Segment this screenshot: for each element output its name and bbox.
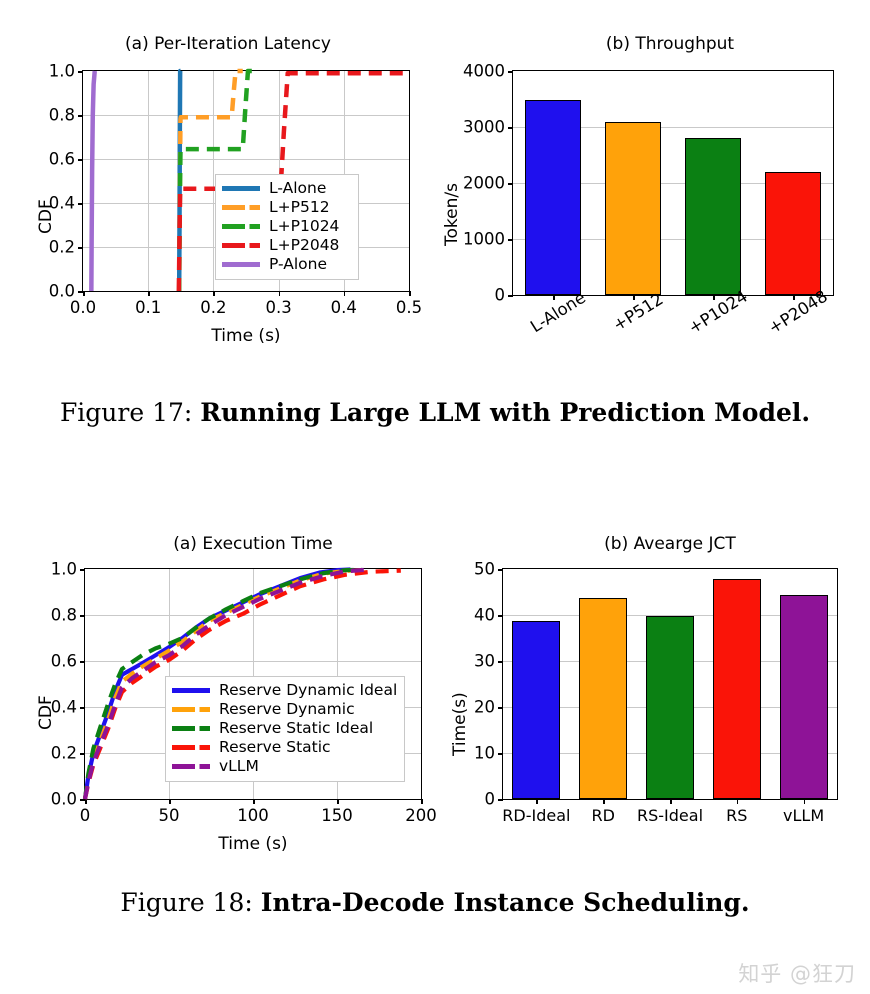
panel-per-iteration-latency: (a) Per-Iteration Latency CDF 0.00.20.40… xyxy=(28,34,428,354)
axis-tick xyxy=(793,295,795,300)
x-tick-label: L-Alone xyxy=(527,288,589,336)
axis-tick xyxy=(169,799,171,804)
axis-tick xyxy=(508,127,513,129)
y-tick-label: 20 xyxy=(474,698,495,717)
axis-tick xyxy=(633,295,635,300)
legend-swatch xyxy=(222,205,260,210)
y-tick-label: 0 xyxy=(485,790,496,809)
y-tick-label: 0.8 xyxy=(49,106,75,125)
legend-item: vLLM xyxy=(172,757,397,776)
axis-tick xyxy=(508,71,513,73)
legend-label: L+P1024 xyxy=(269,219,339,235)
x-tick-label: RS xyxy=(726,806,747,825)
axis-tick xyxy=(508,295,513,297)
x-tick-label: RD xyxy=(591,806,614,825)
x-tick-label: 0 xyxy=(80,806,91,825)
caption-prefix: Figure 18: xyxy=(120,888,252,917)
y-axis-label: Token/s xyxy=(442,183,462,246)
legend-swatch xyxy=(222,186,260,191)
legend-swatch xyxy=(222,243,260,248)
x-axis-label: Time (s) xyxy=(218,834,287,854)
x-tick-label: 150 xyxy=(321,806,353,825)
axis-tick xyxy=(498,569,503,571)
legend-item: Reserve Static Ideal xyxy=(172,719,397,738)
axis-tick xyxy=(498,799,503,801)
axis-tick xyxy=(344,291,346,296)
y-tick-label: 1.0 xyxy=(49,62,75,81)
plot-area: 0.00.20.40.60.81.0050100150200Reserve Dy… xyxy=(84,568,422,800)
legend-label: Reserve Dynamic Ideal xyxy=(219,683,397,699)
x-tick-label: +P512 xyxy=(610,289,667,334)
plot-area: 0.00.20.40.60.81.00.00.10.20.30.40.5L-Al… xyxy=(82,70,410,292)
bar xyxy=(685,138,741,295)
y-tick-label: 0.6 xyxy=(51,652,77,671)
x-tick-label: vLLM xyxy=(783,806,824,825)
legend-label: P-Alone xyxy=(269,257,327,273)
y-tick-label: 0.2 xyxy=(51,744,77,763)
legend-item: Reserve Static xyxy=(172,738,397,757)
x-axis-label: Time (s) xyxy=(211,326,280,346)
bar xyxy=(646,616,694,799)
caption-prefix: Figure 17: xyxy=(60,398,192,427)
legend-item: L+P1024 xyxy=(222,217,351,236)
bar xyxy=(525,100,581,295)
axis-tick xyxy=(713,295,715,300)
bar xyxy=(780,595,828,799)
axis-tick xyxy=(508,239,513,241)
panel-title: (a) Execution Time xyxy=(68,534,438,554)
x-tick-label: 0.2 xyxy=(200,298,226,317)
legend-label: Reserve Static Ideal xyxy=(219,721,373,737)
y-tick-label: 2000 xyxy=(463,174,505,193)
axis-tick xyxy=(536,799,538,804)
legend-label: Reserve Static xyxy=(219,740,331,756)
legend-item: Reserve Dynamic xyxy=(172,700,397,719)
chart-legend: Reserve Dynamic IdealReserve DynamicRese… xyxy=(165,676,405,782)
panel-throughput: (b) Throughput Token/s 01000200030004000… xyxy=(440,34,860,354)
caption-title: Intra-Decode Instance Scheduling. xyxy=(261,888,750,917)
axis-tick xyxy=(409,291,411,296)
legend-label: Reserve Dynamic xyxy=(219,702,355,718)
y-tick-label: 0.6 xyxy=(49,150,75,169)
figure-17-caption: Figure 17: Running Large LLM with Predic… xyxy=(0,398,870,427)
axis-tick xyxy=(508,183,513,185)
x-tick-label: 0.1 xyxy=(135,298,161,317)
y-tick-label: 40 xyxy=(474,606,495,625)
y-axis-label: Time(s) xyxy=(450,692,470,756)
chart-legend: L-AloneL+P512L+P1024L+P2048P-Alone xyxy=(215,174,359,280)
axis-tick xyxy=(337,799,339,804)
legend-item: L-Alone xyxy=(222,179,351,198)
bar xyxy=(765,172,821,295)
y-tick-label: 1.0 xyxy=(51,560,77,579)
axis-tick xyxy=(213,291,215,296)
legend-label: L-Alone xyxy=(269,181,326,197)
y-tick-label: 30 xyxy=(474,652,495,671)
legend-label: L+P512 xyxy=(269,200,330,216)
axis-tick xyxy=(670,799,672,804)
axis-tick xyxy=(148,291,150,296)
legend-swatch xyxy=(172,707,210,712)
legend-item: L+P2048 xyxy=(222,236,351,255)
axis-tick xyxy=(253,799,255,804)
legend-label: vLLM xyxy=(219,759,259,775)
axis-tick xyxy=(498,707,503,709)
y-tick-label: 0 xyxy=(495,286,506,305)
y-tick-label: 1000 xyxy=(463,230,505,249)
legend-item: P-Alone xyxy=(222,255,351,274)
bar xyxy=(512,621,560,799)
y-tick-label: 0.4 xyxy=(49,194,75,213)
y-tick-label: 0.8 xyxy=(51,606,77,625)
panel-title: (a) Per-Iteration Latency xyxy=(28,34,428,54)
axis-tick xyxy=(498,661,503,663)
x-tick-label: RS-Ideal xyxy=(637,806,703,825)
bar xyxy=(713,579,761,799)
x-tick-label: 100 xyxy=(237,806,269,825)
series-line xyxy=(91,71,94,291)
figure-18-block: (a) Execution Time CDF 0.00.20.40.60.81.… xyxy=(0,520,870,940)
plot-area: 01020304050RD-IdealRDRS-IdealRSvLLM xyxy=(502,568,838,800)
figure-17-block: (a) Per-Iteration Latency CDF 0.00.20.40… xyxy=(0,0,870,460)
legend-item: L+P512 xyxy=(222,198,351,217)
legend-swatch xyxy=(222,262,260,267)
legend-swatch xyxy=(172,688,210,693)
legend-label: L+P2048 xyxy=(269,238,339,254)
panel-execution-time: (a) Execution Time CDF 0.00.20.40.60.81.… xyxy=(28,534,438,854)
y-tick-label: 10 xyxy=(474,744,495,763)
axis-tick xyxy=(498,615,503,617)
legend-swatch xyxy=(172,726,210,731)
plot-area: 01000200030004000L-Alone+P512+P1024+P204… xyxy=(512,70,834,296)
watermark: 知乎 @狂刀 xyxy=(738,958,856,988)
y-tick-label: 0.0 xyxy=(51,790,77,809)
x-tick-label: 200 xyxy=(405,806,437,825)
y-tick-label: 3000 xyxy=(463,118,505,137)
axis-tick xyxy=(553,295,555,300)
x-tick-label: 0.3 xyxy=(265,298,291,317)
axis-tick xyxy=(279,291,281,296)
figure-18-caption: Figure 18: Intra-Decode Instance Schedul… xyxy=(0,888,870,917)
x-tick-label: 0.0 xyxy=(70,298,96,317)
axis-tick xyxy=(804,799,806,804)
legend-swatch xyxy=(172,745,210,750)
y-tick-label: 50 xyxy=(474,560,495,579)
x-tick-label: 0.5 xyxy=(396,298,422,317)
legend-item: Reserve Dynamic Ideal xyxy=(172,681,397,700)
caption-title: Running Large LLM with Prediction Model. xyxy=(200,398,810,427)
axis-tick xyxy=(421,799,423,804)
x-tick-label: 0.4 xyxy=(331,298,357,317)
axis-tick xyxy=(498,753,503,755)
y-tick-label: 4000 xyxy=(463,62,505,81)
panel-title: (b) Avearge JCT xyxy=(480,534,860,554)
y-tick-label: 0.2 xyxy=(49,238,75,257)
axis-tick xyxy=(737,799,739,804)
bar xyxy=(605,122,661,295)
y-tick-label: 0.4 xyxy=(51,698,77,717)
bar xyxy=(579,598,627,799)
axis-tick xyxy=(603,799,605,804)
x-tick-label: 50 xyxy=(159,806,180,825)
legend-swatch xyxy=(222,224,260,229)
panel-title: (b) Throughput xyxy=(480,34,860,54)
legend-swatch xyxy=(172,764,210,769)
x-tick-label: RD-Ideal xyxy=(502,806,570,825)
panel-average-jct: (b) Avearge JCT Time(s) 01020304050RD-Id… xyxy=(440,534,860,854)
axis-tick xyxy=(85,799,87,804)
axis-tick xyxy=(83,291,85,296)
